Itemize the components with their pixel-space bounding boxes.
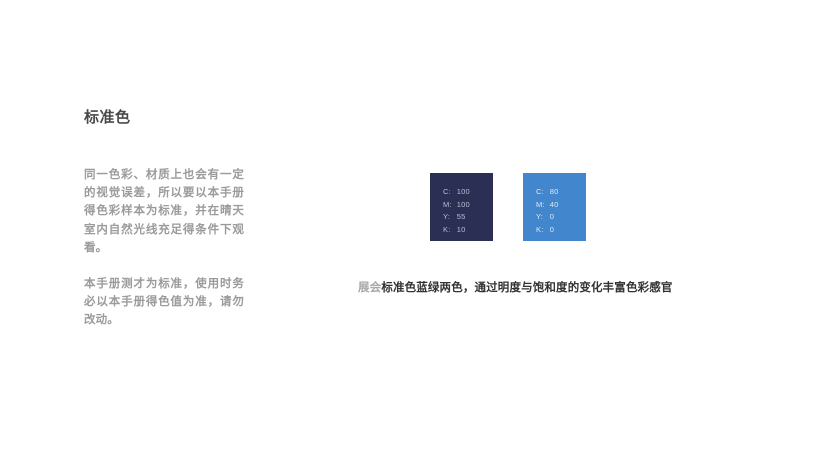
cmyk-value-y: 0: [550, 212, 559, 222]
cmyk-label-y: Y:: [443, 212, 452, 222]
caption-main-text: 标准色蓝绿两色，通过明度与饱和度的变化丰富色彩感官: [381, 282, 672, 294]
color-swatch-row: C: 100 M: 100 Y: 55 K: 10 C: 80 M: 40 Y:…: [430, 173, 586, 241]
cmyk-value-c: 100: [457, 187, 470, 197]
body-text-block: 同一色彩、材质上也会有一定的视觉误差，所以要以本手册得色彩样本为标准，并在晴天室…: [84, 166, 244, 330]
cmyk-value-k: 10: [457, 225, 470, 235]
page-title: 标准色: [84, 108, 244, 128]
color-swatch-secondary-blue[interactable]: C: 80 M: 40 Y: 0 K: 0: [523, 173, 586, 241]
left-text-column: 标准色 同一色彩、材质上也会有一定的视觉误差，所以要以本手册得色彩样本为标准，并…: [84, 108, 244, 330]
cmyk-label-k: K:: [443, 225, 452, 235]
cmyk-value-list: C: 100 M: 100 Y: 55 K: 10: [443, 187, 470, 234]
cmyk-label-c: C:: [443, 187, 452, 197]
cmyk-label-k: K:: [536, 225, 545, 235]
cmyk-value-k: 0: [550, 225, 559, 235]
cmyk-value-list: C: 80 M: 40 Y: 0 K: 0: [536, 187, 558, 234]
cmyk-label-y: Y:: [536, 212, 545, 222]
body-paragraph-2: 本手册测才为标准，使用时务必以本手册得色值为准，请勿改动。: [84, 275, 244, 330]
cmyk-label-c: C:: [536, 187, 545, 197]
cmyk-label-m: M:: [536, 200, 545, 210]
cmyk-value-m: 40: [550, 200, 559, 210]
color-swatch-primary-dark-navy[interactable]: C: 100 M: 100 Y: 55 K: 10: [430, 173, 493, 241]
caption-lead-text: 展会: [358, 282, 381, 294]
body-paragraph-1: 同一色彩、材质上也会有一定的视觉误差，所以要以本手册得色彩样本为标准，并在晴天室…: [84, 166, 244, 257]
cmyk-value-m: 100: [457, 200, 470, 210]
cmyk-label-m: M:: [443, 200, 452, 210]
cmyk-value-y: 55: [457, 212, 470, 222]
cmyk-value-c: 80: [550, 187, 559, 197]
swatch-caption: 展会标准色蓝绿两色，通过明度与饱和度的变化丰富色彩感官: [358, 280, 660, 296]
slide-canvas: 标准色 同一色彩、材质上也会有一定的视觉误差，所以要以本手册得色彩样本为标准，并…: [0, 0, 817, 459]
